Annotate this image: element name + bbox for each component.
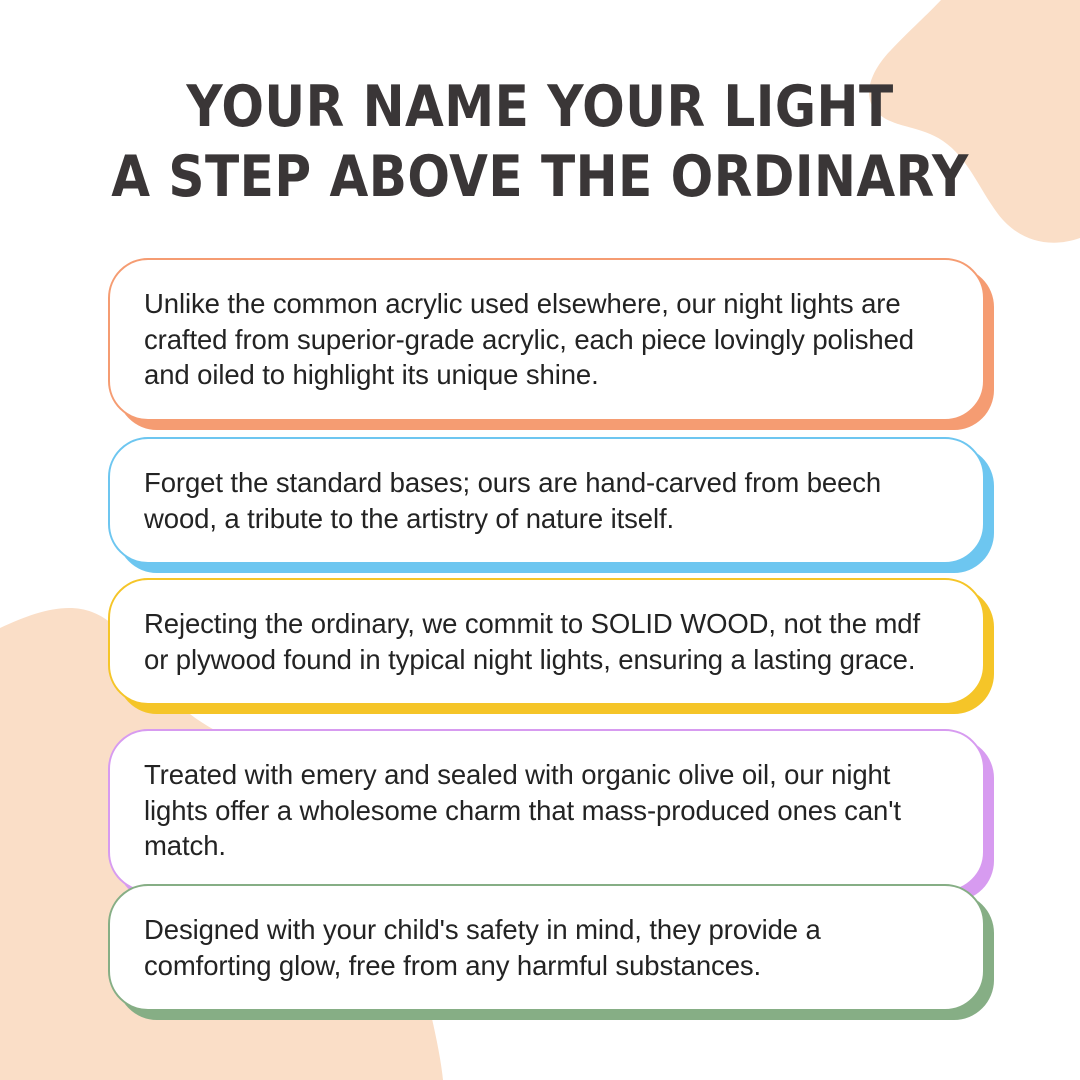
feature-card-card-beech-wood: Forget the standard bases; ours are hand… — [108, 437, 985, 564]
card-face: Unlike the common acrylic used elsewhere… — [108, 258, 985, 421]
feature-card-card-solid-wood: Rejecting the ordinary, we commit to SOL… — [108, 578, 985, 705]
title-line-2: A STEP ABOVE THE ORDINARY — [65, 142, 1015, 212]
poster-canvas: YOUR NAME YOUR LIGHT A STEP ABOVE THE OR… — [0, 0, 1080, 1080]
feature-card-card-child-safety: Designed with your child's safety in min… — [108, 884, 985, 1011]
card-text: Designed with your child's safety in min… — [110, 886, 983, 1009]
card-text: Rejecting the ordinary, we commit to SOL… — [110, 580, 983, 703]
title-line-1: YOUR NAME YOUR LIGHT — [65, 72, 1015, 142]
card-text: Treated with emery and sealed with organ… — [110, 731, 983, 890]
page-title: YOUR NAME YOUR LIGHT A STEP ABOVE THE OR… — [0, 72, 1080, 212]
card-face: Designed with your child's safety in min… — [108, 884, 985, 1011]
feature-card-card-acrylic: Unlike the common acrylic used elsewhere… — [108, 258, 985, 421]
card-face: Rejecting the ordinary, we commit to SOL… — [108, 578, 985, 705]
card-face: Treated with emery and sealed with organ… — [108, 729, 985, 892]
card-text: Forget the standard bases; ours are hand… — [110, 439, 983, 562]
feature-card-card-olive-oil: Treated with emery and sealed with organ… — [108, 729, 985, 892]
card-face: Forget the standard bases; ours are hand… — [108, 437, 985, 564]
card-text: Unlike the common acrylic used elsewhere… — [110, 260, 983, 419]
